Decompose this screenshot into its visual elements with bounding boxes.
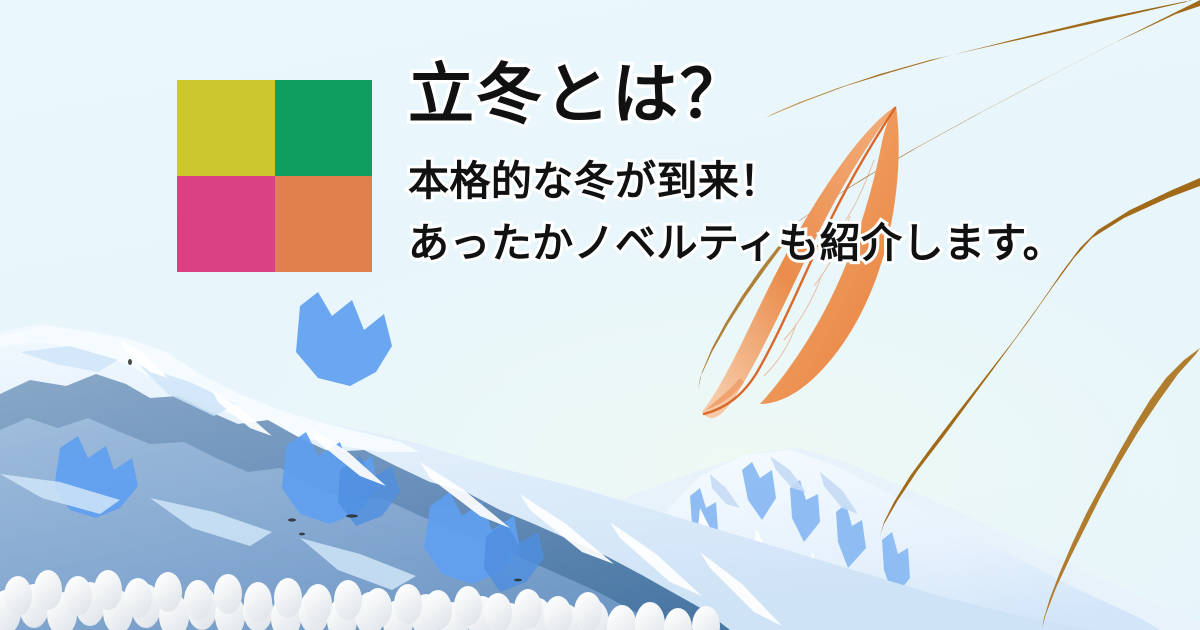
logo-tile-top-left [177, 80, 275, 176]
logo-tile-bottom-right [275, 176, 373, 272]
four-square-logo [177, 80, 372, 272]
headline-block: 立冬とは？ 本格的な冬が到来！ あったかノベルティも紹介します。 [408, 62, 1088, 275]
logo-tile-top-right [275, 80, 373, 176]
logo-tile-bottom-left [177, 176, 275, 272]
subtitle-line-1: 本格的な冬が到来！ [408, 150, 1088, 212]
page-title: 立冬とは？ [408, 62, 1088, 128]
subtitle-block: 本格的な冬が到来！ あったかノベルティも紹介します。 [408, 150, 1088, 275]
branch-4 [1042, 348, 1200, 628]
subtitle-line-2: あったかノベルティも紹介します。 [408, 212, 1088, 274]
banner-root: 立冬とは？ 本格的な冬が到来！ あったかノベルティも紹介します。 [0, 0, 1200, 630]
